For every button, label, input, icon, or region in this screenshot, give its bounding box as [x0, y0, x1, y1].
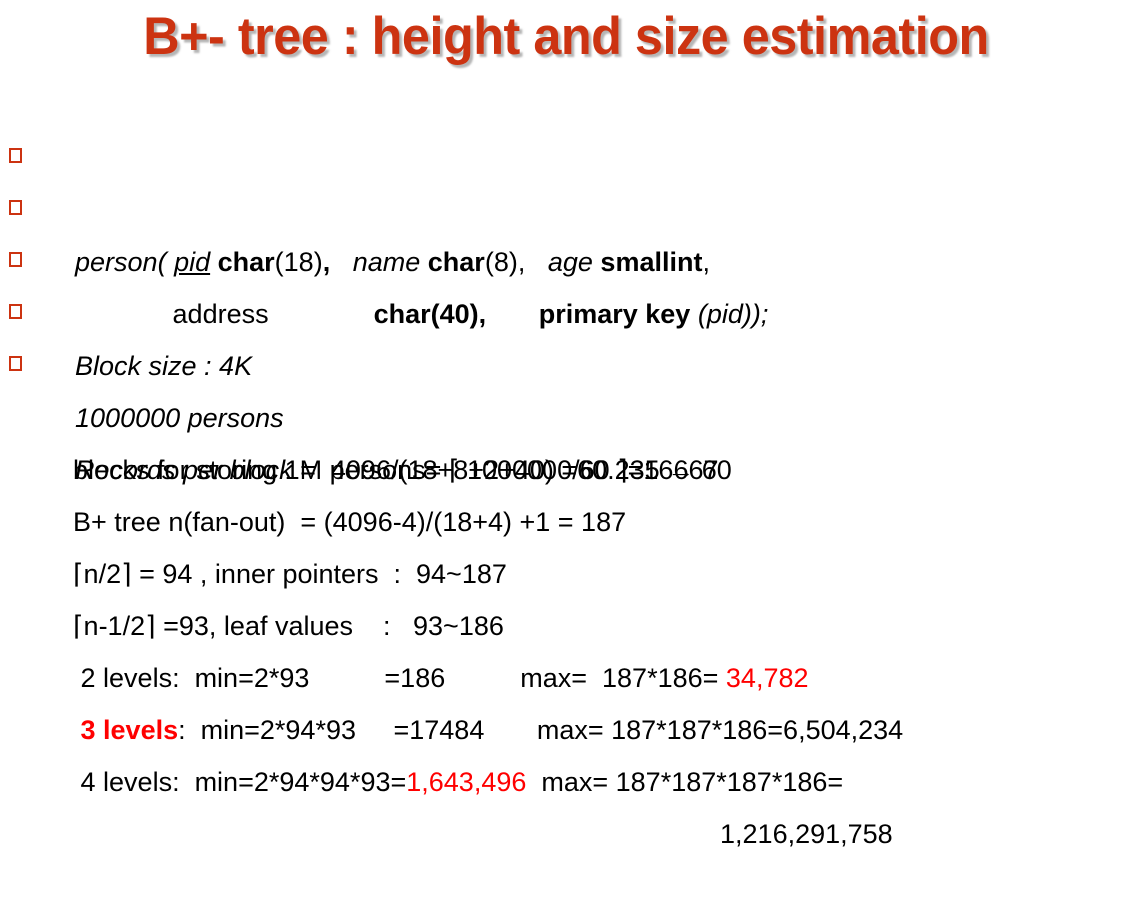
page-title: B+- tree : height and size estimation [28, 6, 1103, 68]
square-bullet-icon [9, 356, 22, 371]
bullet-line-person-schema: person( pid char(18), name char(8), age … [0, 132, 1132, 184]
text-4-levels-max-result: 1,216,291,758 [720, 819, 893, 849]
line-4-levels-max-result: 1,216,291,758 [0, 756, 1132, 808]
square-bullet-icon [9, 304, 22, 319]
line-3-levels: 3 levels: min=2*94*93 =17484 max= 187*18… [0, 652, 1132, 704]
square-bullet-icon [9, 148, 22, 163]
bullet-line-records-per-block: Records per block = 4096/(18+8+2+40) =60… [0, 340, 1132, 392]
line-2-levels: 2 levels: min=2*93 =186 max= 187*186= 34… [0, 600, 1132, 652]
bullet-line-address-primarykey: address char(40), primary key (pid)); [0, 184, 1132, 236]
line-blocks-for-storing: blocks for storing 1M persons= ⌈ 1000000… [0, 392, 1132, 444]
line-4-levels: 4 levels: min=2*94*94*93=1,643,496 max= … [0, 704, 1132, 756]
square-bullet-icon [9, 200, 22, 215]
slide-body: person( pid char(18), name char(8), age … [0, 132, 1132, 808]
bullet-line-person-count: 1000000 persons [0, 288, 1132, 340]
bullet-line-block-size: Block size : 4K [0, 236, 1132, 288]
line-inner-pointers: ⌈n/2⌉ = 94 , inner pointers : 94~187 [0, 496, 1132, 548]
square-bullet-icon [9, 252, 22, 267]
line-fan-out: B+ tree n(fan-out) = (4096-4)/(18+4) +1 … [0, 444, 1132, 496]
line-leaf-values: ⌈n-1/2⌉ =93, leaf values : 93~186 [0, 548, 1132, 600]
